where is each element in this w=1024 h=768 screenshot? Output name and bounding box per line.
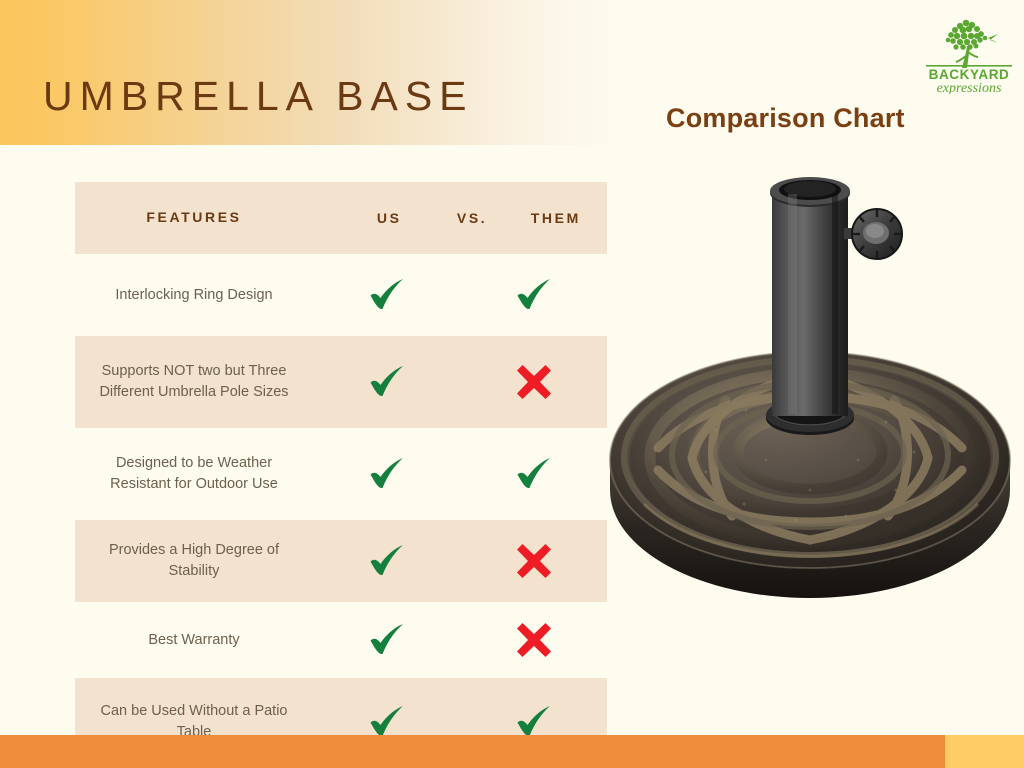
cross-icon xyxy=(460,542,607,580)
logo-brand-line1: BACKYARD xyxy=(929,67,1010,82)
check-icon xyxy=(313,623,460,657)
table-row: Best Warranty xyxy=(75,602,607,678)
table-row: Designed to be Weather Resistant for Out… xyxy=(75,428,607,520)
table-header-row: FEATURES US VS. THEM xyxy=(75,182,607,254)
cross-icon xyxy=(460,363,607,401)
check-icon xyxy=(460,457,607,491)
mark-cells xyxy=(313,520,607,602)
page-title: UMBRELLA BASE xyxy=(43,73,474,120)
check-icon xyxy=(313,544,460,578)
brand-logo: BACKYARD expressions xyxy=(920,12,1018,94)
umbrella-pole-holder xyxy=(770,177,850,416)
column-header-them: THEM xyxy=(505,210,607,226)
table-header-marks: US VS. THEM xyxy=(313,182,607,254)
check-icon xyxy=(460,278,607,312)
feature-label: Designed to be Weather Resistant for Out… xyxy=(75,428,313,520)
check-icon xyxy=(313,365,460,399)
check-icon xyxy=(313,457,460,491)
table-row: Interlocking Ring Design xyxy=(75,254,607,336)
comparison-table: FEATURES US VS. THEM Interlocking Ring D… xyxy=(75,182,607,766)
feature-label: Provides a High Degree of Stability xyxy=(75,520,313,602)
tightening-knob xyxy=(844,209,902,259)
footer-bar-yellow xyxy=(945,735,1024,768)
tree-icon xyxy=(946,20,998,68)
feature-label: Interlocking Ring Design xyxy=(75,254,313,336)
table-body: Interlocking Ring DesignSupports NOT two… xyxy=(75,254,607,766)
mark-cells xyxy=(313,428,607,520)
check-icon xyxy=(460,705,607,739)
check-icon xyxy=(313,705,460,739)
poster-canvas: UMBRELLA BASE xyxy=(0,0,1024,768)
feature-label: Supports NOT two but Three Different Umb… xyxy=(75,336,313,428)
column-header-vs: VS. xyxy=(440,210,505,226)
mark-cells xyxy=(313,254,607,336)
comparison-chart-title: Comparison Chart xyxy=(666,103,905,134)
footer-bar-orange xyxy=(0,735,945,768)
check-icon xyxy=(313,278,460,312)
cross-icon xyxy=(460,621,607,659)
mark-cells xyxy=(313,602,607,678)
feature-label: Best Warranty xyxy=(75,602,313,678)
column-header-features: FEATURES xyxy=(75,182,313,254)
column-header-us: US xyxy=(339,210,440,226)
table-row: Supports NOT two but Three Different Umb… xyxy=(75,336,607,428)
table-row: Provides a High Degree of Stability xyxy=(75,520,607,602)
logo-brand-line2: expressions xyxy=(937,81,1002,94)
mark-cells xyxy=(313,336,607,428)
umbrella-base-product-photo xyxy=(596,160,1024,630)
